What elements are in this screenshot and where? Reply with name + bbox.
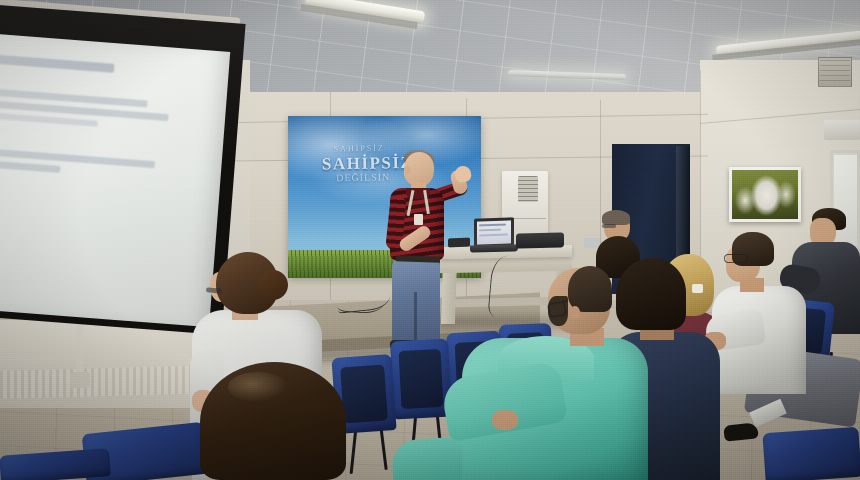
seminar-room-photograph: SAHİPSİZ SAHİPSİZ DEĞİLSİN [0, 0, 860, 480]
photo-grain [0, 0, 860, 480]
